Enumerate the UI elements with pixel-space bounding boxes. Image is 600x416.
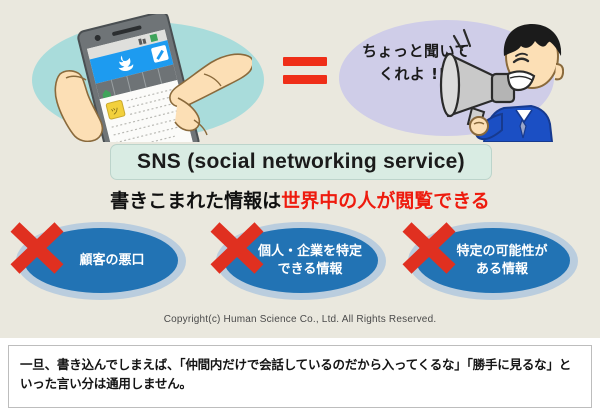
forbidden-item-label: 顧客の悪口	[57, 252, 144, 270]
subtitle: 書きこまれた情報は世界中の人が閲覧できる	[0, 186, 600, 213]
subtitle-plain-text: 書きこまれた情報は	[110, 190, 281, 212]
copyright-notice: Copyright(c) Human Science Co., Ltd. All…	[0, 314, 600, 325]
caption-box: 一旦、書き込んでしまえば、「仲間内だけで会話しているのだから入ってくるな」「勝手…	[8, 345, 592, 408]
forbidden-item: 個人・企業を特定 できる情報	[208, 218, 393, 304]
forbidden-item: 顧客の悪口	[8, 218, 193, 304]
forbidden-items-row: 顧客の悪口 個人・企業を特定 できる情報 特定の可能性が ある情報	[0, 218, 600, 304]
caption-text: 一旦、書き込んでしまえば、「仲間内だけで会話しているのだから入ってくるな」「勝手…	[20, 355, 580, 394]
x-mark-icon	[208, 220, 266, 276]
x-mark-icon	[400, 220, 458, 276]
equals-sign-icon	[283, 57, 327, 87]
man-shouting-megaphone-illustration	[432, 20, 564, 142]
x-mark-icon	[8, 220, 66, 276]
sns-banner-label: SNS (social networking service)	[137, 150, 465, 174]
sns-banner: SNS (social networking service)	[110, 144, 492, 180]
subtitle-accent-text: 世界中の人が閲覧できる	[281, 190, 490, 212]
illustration-row: ツ	[0, 0, 600, 146]
forbidden-item: 特定の可能性が ある情報	[400, 218, 585, 304]
hand-holding-smartphone-illustration: ツ	[52, 14, 252, 142]
slide-canvas: ツ	[0, 0, 600, 338]
